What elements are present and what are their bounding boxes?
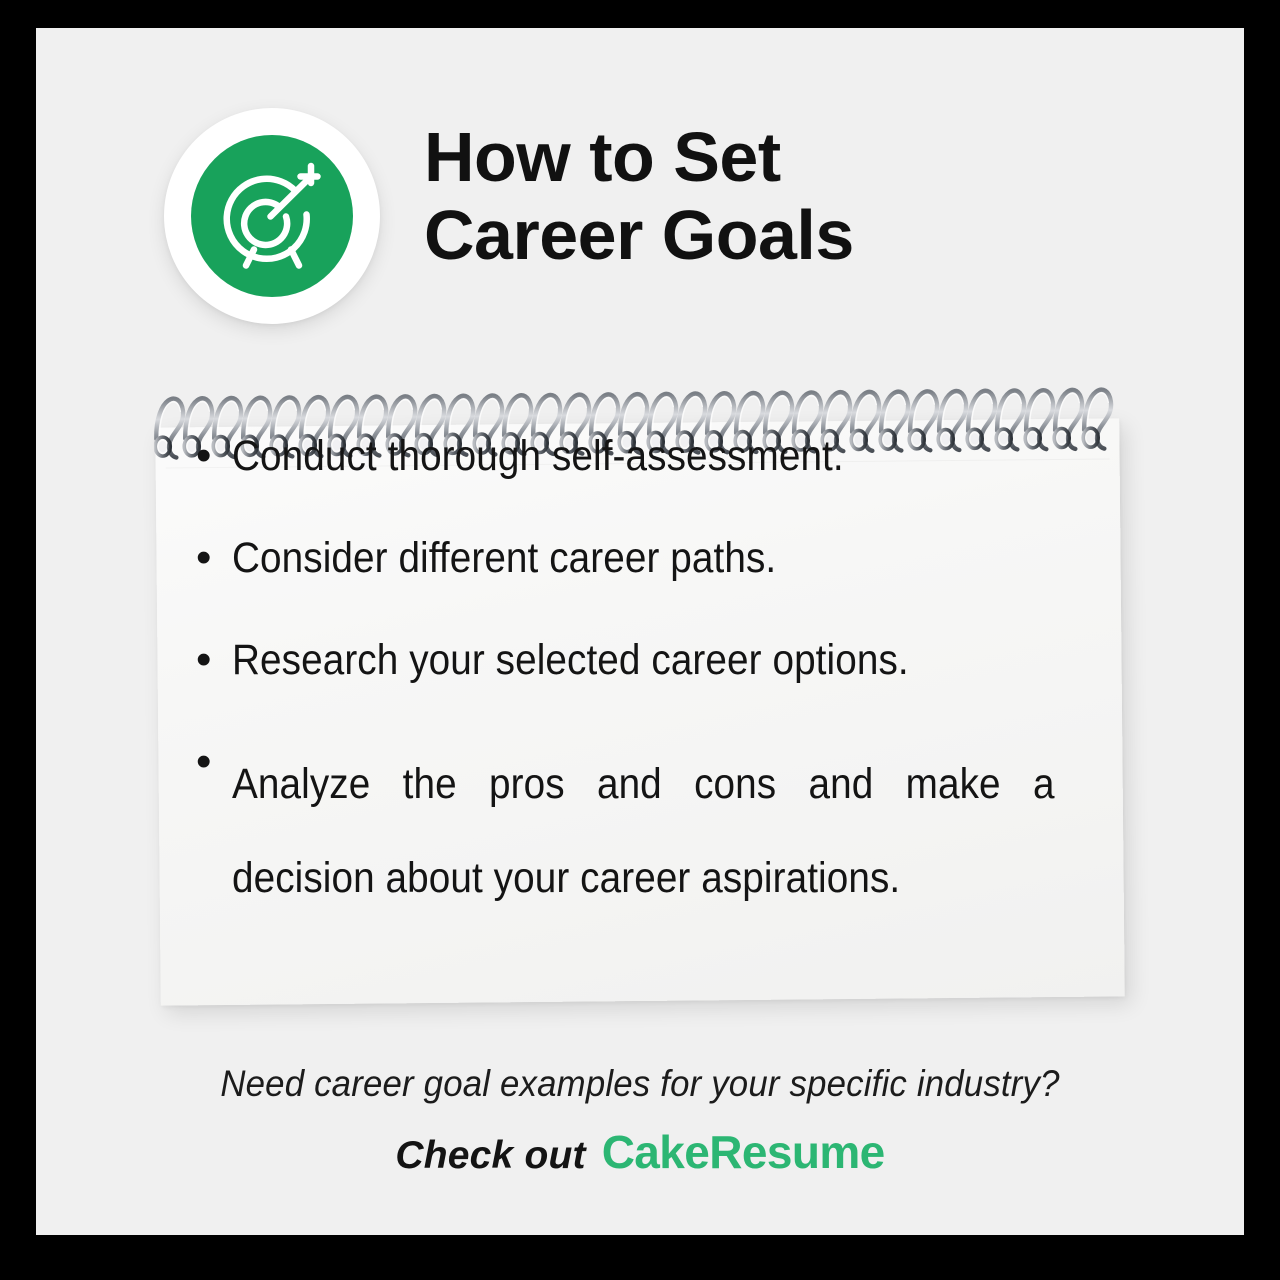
list-item: • Analyze the pros and cons and make a xyxy=(196,734,1146,834)
bullet-icon: • xyxy=(196,530,232,586)
list-item-label: Research your selected career options. xyxy=(232,632,1055,688)
header: How to Set Career Goals xyxy=(36,100,1244,330)
list-item-continuation: decision about your career aspirations. xyxy=(196,850,1146,906)
footer-cta[interactable]: Check out CakeResume xyxy=(36,1125,1244,1179)
title-line-2: Career Goals xyxy=(424,196,1124,274)
list-item: • Consider different career paths. xyxy=(196,530,1146,586)
icon-badge xyxy=(164,108,380,324)
list-item-label: Conduct thorough self-assessment. xyxy=(232,428,1055,484)
poster-canvas: How to Set Career Goals xyxy=(36,28,1244,1235)
bullet-icon: • xyxy=(196,734,232,790)
target-goal-icon xyxy=(191,135,353,297)
bullet-icon: • xyxy=(196,428,232,484)
footer-question: Need career goal examples for your speci… xyxy=(72,1063,1208,1105)
brand-logo-cakeresume[interactable]: CakeResume xyxy=(602,1125,885,1179)
list-item-label: decision about your career aspirations. xyxy=(232,850,1055,906)
list-item-label: Consider different career paths. xyxy=(232,530,1055,586)
bullet-icon: • xyxy=(196,632,232,688)
cta-prefix-label: Check out xyxy=(395,1134,585,1178)
page-title: How to Set Career Goals xyxy=(424,118,1124,275)
list-item-label: Analyze the pros and cons and make a xyxy=(232,734,1055,834)
footer: Need career goal examples for your speci… xyxy=(36,1063,1244,1179)
goal-steps-list: • Conduct thorough self-assessment. • Co… xyxy=(196,428,1146,952)
list-item: • Research your selected career options. xyxy=(196,632,1146,688)
list-item: • Conduct thorough self-assessment. xyxy=(196,428,1146,484)
title-line-1: How to Set xyxy=(424,118,1124,196)
